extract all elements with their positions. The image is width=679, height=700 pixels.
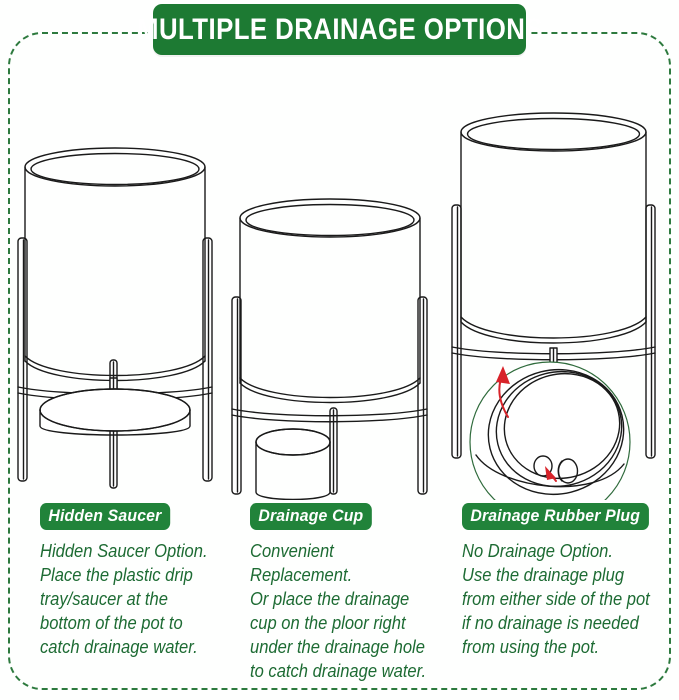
caption-pill-drainage-cup: Drainage Cup xyxy=(250,503,372,530)
infographic-root: MULTIPLE DRAINAGE OPTIONS xyxy=(0,0,679,700)
pot-2 xyxy=(240,199,420,403)
caption-column-hidden-saucer: Hidden Saucer Hidden Saucer Option. Plac… xyxy=(40,503,240,659)
caption-text-drainage-cup: Convenient Replacement. Or place the dra… xyxy=(250,539,439,683)
caption-column-drainage-cup: Drainage Cup Convenient Replacement. Or … xyxy=(250,503,455,683)
hidden-saucer-tray xyxy=(40,389,190,435)
caption-pill-drainage-rubber-plug: Drainage Rubber Plug xyxy=(462,503,648,530)
title-banner: MULTIPLE DRAINAGE OPTIONS xyxy=(153,4,526,55)
pot-1 xyxy=(25,148,205,381)
caption-column-drainage-rubber-plug: Drainage Rubber Plug No Drainage Option.… xyxy=(462,503,677,659)
caption-text-hidden-saucer: Hidden Saucer Option. Place the plastic … xyxy=(40,539,224,659)
caption-text-drainage-rubber-plug: No Drainage Option. Use the drainage plu… xyxy=(462,539,660,659)
page-title: MULTIPLE DRAINAGE OPTIONS xyxy=(137,15,543,45)
drainage-cup-object xyxy=(256,429,330,500)
stand-legs-1 xyxy=(18,238,212,488)
illustration-area xyxy=(0,60,679,500)
illustration-hidden-saucer xyxy=(18,148,212,488)
illustration-drainage-cup xyxy=(232,199,427,500)
captions-area: Hidden Saucer Hidden Saucer Option. Plac… xyxy=(0,503,679,693)
caption-pill-hidden-saucer: Hidden Saucer xyxy=(40,503,170,530)
pot-3 xyxy=(461,113,646,343)
illustration-drainage-rubber-plug xyxy=(452,113,655,500)
